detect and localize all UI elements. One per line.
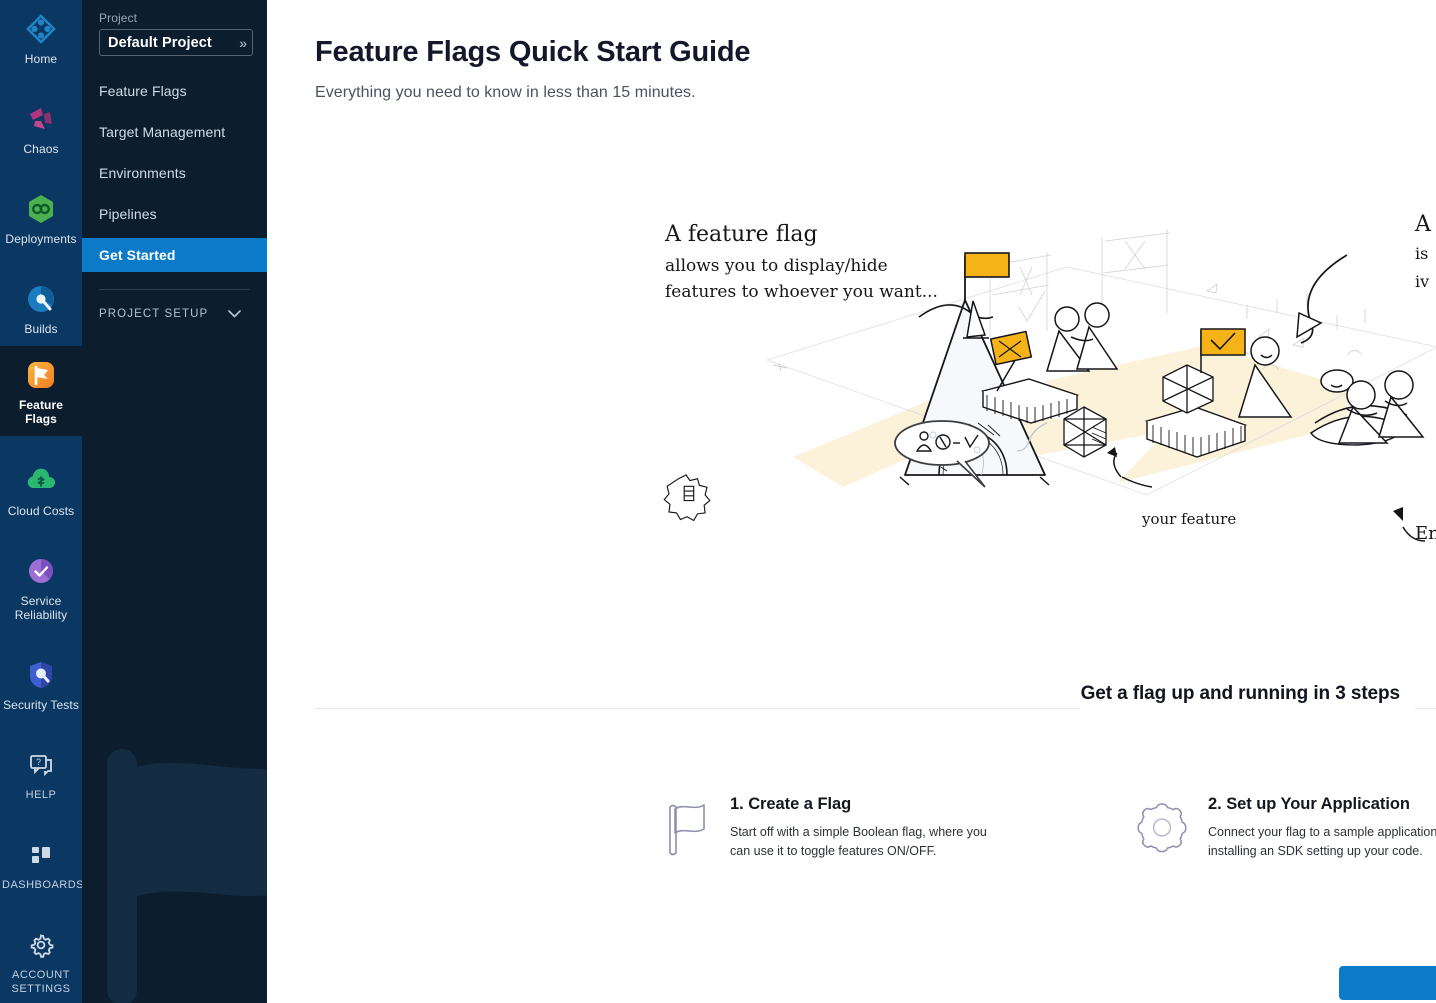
chevron-double-right-icon: » bbox=[239, 36, 245, 50]
steps-list: 1. Create a Flag Start off with a simple… bbox=[658, 795, 1436, 862]
sidebar-item-pipelines[interactable]: Pipelines bbox=[82, 197, 267, 231]
illustration-label-right-3: iv bbox=[1415, 272, 1429, 291]
page-subtitle: Everything you need to know in less than… bbox=[315, 84, 696, 102]
rail-item-deployments[interactable]: Deployments bbox=[0, 180, 82, 256]
project-label: Project bbox=[82, 0, 267, 29]
illustration-caption-line1: allows you to display/hide bbox=[665, 256, 888, 276]
home-diamond-icon bbox=[2, 12, 80, 46]
rail-item-home[interactable]: Home bbox=[0, 0, 82, 76]
rail-item-account-settings[interactable]: ACCOUNT SETTINGS bbox=[0, 916, 82, 1003]
rail-item-label: Feature Flags bbox=[2, 398, 80, 426]
illustration-label-your-feature: your feature bbox=[1141, 510, 1236, 528]
sidebar-item-get-started[interactable]: Get Started bbox=[82, 238, 267, 272]
dashboards-icon bbox=[2, 838, 80, 872]
rail-item-label: Security Tests bbox=[2, 698, 80, 712]
sidebar-item-label: Target Management bbox=[99, 124, 225, 140]
illustration-label-right-2: is bbox=[1415, 244, 1428, 263]
section-divider-left bbox=[315, 708, 1080, 709]
hero-illustration: A feature flag allows you to display/hid… bbox=[647, 195, 1436, 605]
rail-item-service-reliability[interactable]: Service Reliability bbox=[0, 542, 82, 632]
project-sidebar: Project Default Project » Feature Flags … bbox=[82, 0, 267, 1003]
module-rail: Home Chaos Deployments bbox=[0, 0, 82, 1003]
rail-item-label: ACCOUNT SETTINGS bbox=[2, 968, 80, 996]
help-icon: ? bbox=[2, 748, 80, 782]
service-reliability-icon bbox=[2, 554, 80, 588]
illustration-caption-title: A feature flag bbox=[664, 222, 818, 247]
gear-icon bbox=[2, 928, 80, 962]
illustration-label-right-1: A bbox=[1414, 212, 1432, 237]
project-selector-value: Default Project bbox=[108, 35, 212, 51]
chaos-icon bbox=[2, 102, 80, 136]
sidebar-item-feature-flags[interactable]: Feature Flags bbox=[82, 74, 267, 108]
deployments-icon bbox=[2, 192, 80, 226]
rail-item-label: Home bbox=[2, 52, 80, 66]
step-description: Start off with a simple Boolean flag, wh… bbox=[730, 823, 1002, 861]
rail-item-chaos[interactable]: Chaos bbox=[0, 90, 82, 166]
rail-item-label: Deployments bbox=[2, 232, 80, 246]
builds-icon bbox=[2, 282, 80, 316]
rail-item-label: Service Reliability bbox=[2, 594, 80, 622]
security-tests-icon bbox=[2, 658, 80, 692]
flag-icon bbox=[658, 795, 714, 862]
sidebar-item-label: Feature Flags bbox=[99, 83, 187, 99]
sidebar-item-environments[interactable]: Environments bbox=[82, 156, 267, 190]
project-selector[interactable]: Default Project » bbox=[99, 29, 253, 56]
sidebar-section-label: PROJECT SETUP bbox=[99, 308, 208, 320]
rail-item-label: HELP bbox=[2, 788, 80, 802]
rail-item-label: Chaos bbox=[2, 142, 80, 156]
rail-item-cloud-costs[interactable]: Cloud Costs bbox=[0, 452, 82, 528]
sidebar-item-target-management[interactable]: Target Management bbox=[82, 115, 267, 149]
rail-item-feature-flags[interactable]: Feature Flags bbox=[0, 346, 82, 436]
step-description: Connect your flag to a sample applicatio… bbox=[1208, 823, 1436, 861]
sidebar-section-project-setup[interactable]: PROJECT SETUP bbox=[82, 290, 267, 321]
get-started-button[interactable]: Get Started bbox=[1339, 966, 1436, 1000]
step-title: 1. Create a Flag bbox=[730, 795, 1078, 814]
sidebar-item-label: Environments bbox=[99, 165, 186, 181]
step-create-a-flag: 1. Create a Flag Start off with a simple… bbox=[658, 795, 1078, 862]
sidebar-item-label: Pipelines bbox=[99, 206, 157, 222]
svg-text:?: ? bbox=[36, 757, 41, 767]
page-title: Feature Flags Quick Start Guide bbox=[315, 36, 750, 69]
rail-item-builds[interactable]: Builds bbox=[0, 270, 82, 346]
rail-item-help[interactable]: ? HELP bbox=[0, 736, 82, 812]
sidebar-item-label: Get Started bbox=[99, 247, 176, 263]
rail-item-dashboards[interactable]: DASHBOARDS bbox=[0, 826, 82, 902]
app-root: Home Chaos Deployments bbox=[0, 0, 1436, 1003]
section-divider-right bbox=[1415, 708, 1436, 709]
chevron-down-icon bbox=[228, 307, 241, 321]
illustration-label-env-clipped: En bbox=[1415, 523, 1436, 544]
main-content: Feature Flags Quick Start Guide Everythi… bbox=[267, 0, 1436, 1003]
illustration-caption-line2: features to whoever you want... bbox=[665, 282, 938, 302]
feature-flags-icon bbox=[2, 358, 80, 392]
rail-item-label: Cloud Costs bbox=[2, 504, 80, 518]
cloud-costs-icon bbox=[2, 464, 80, 498]
gear-icon bbox=[1136, 795, 1192, 862]
rail-item-security-tests[interactable]: Security Tests bbox=[0, 646, 82, 722]
step-set-up-your-application: 2. Set up Your Application Connect your … bbox=[1136, 795, 1436, 862]
section-heading: Get a flag up and running in 3 steps bbox=[1081, 683, 1400, 705]
rail-item-label: Builds bbox=[2, 322, 80, 336]
project-nav-list: Feature Flags Target Management Environm… bbox=[82, 74, 267, 272]
flag-watermark-icon bbox=[82, 740, 267, 1003]
rail-item-label: DASHBOARDS bbox=[2, 878, 80, 892]
step-title: 2. Set up Your Application bbox=[1208, 795, 1436, 814]
